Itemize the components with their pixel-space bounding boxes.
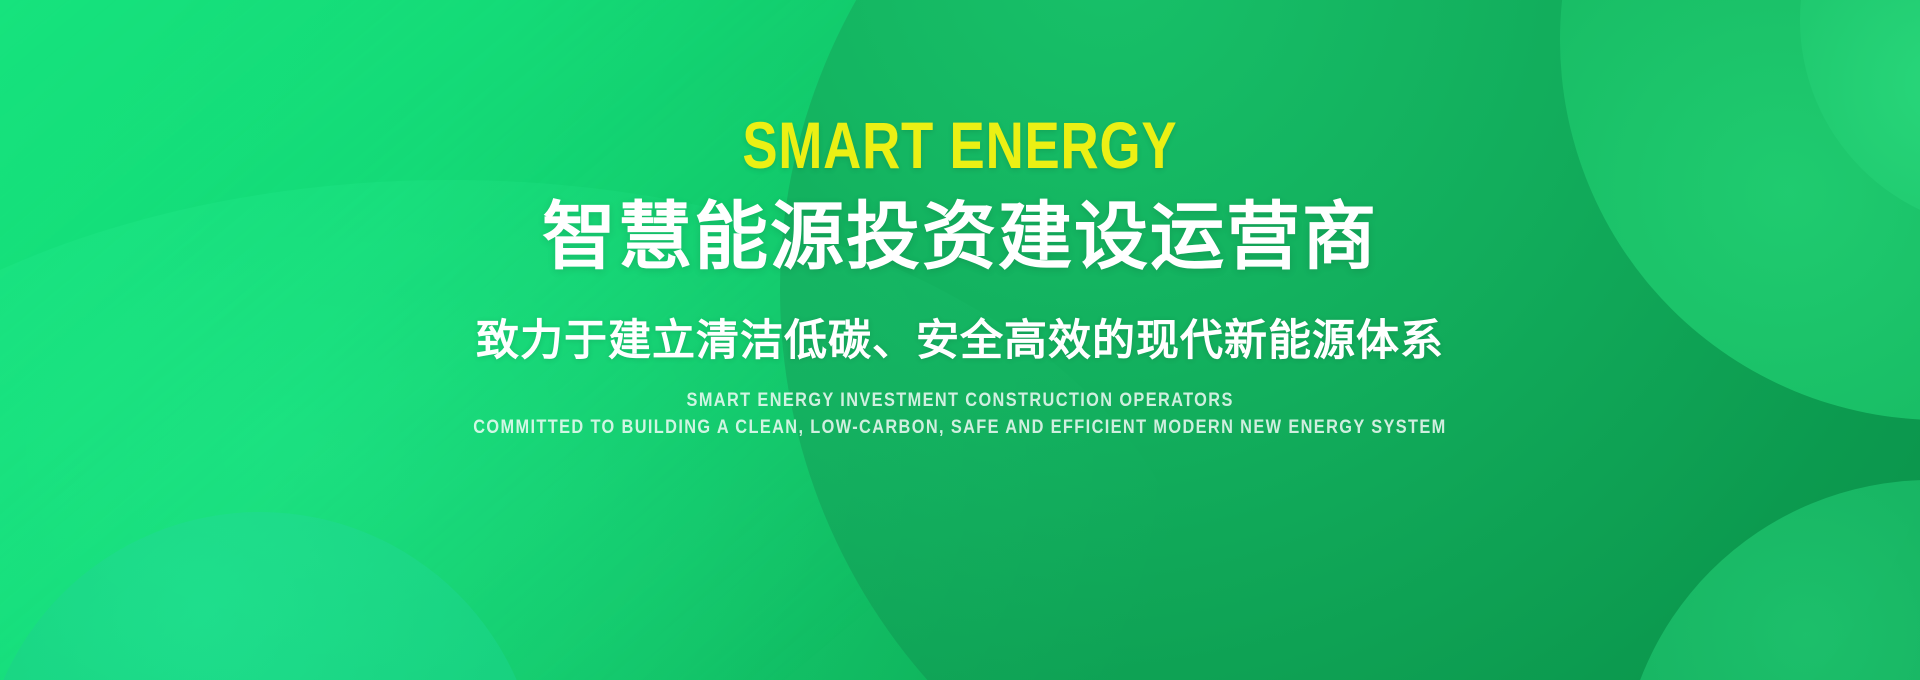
hero-banner: SMART ENERGY 智慧能源投资建设运营商 致力于建立清洁低碳、安全高效的… <box>0 0 1920 680</box>
hero-content: SMART ENERGY 智慧能源投资建设运营商 致力于建立清洁低碳、安全高效的… <box>0 0 1920 680</box>
hero-eyebrow-smart-energy: SMART ENERGY <box>743 112 1178 178</box>
hero-headline-chinese: 智慧能源投资建设运营商 <box>542 200 1378 274</box>
hero-english-block: SMART ENERGY INVESTMENT CONSTRUCTION OPE… <box>394 391 1526 437</box>
hero-subheadline-chinese: 致力于建立清洁低碳、安全高效的现代新能源体系 <box>476 320 1444 363</box>
hero-english-line-1: SMART ENERGY INVESTMENT CONSTRUCTION OPE… <box>686 391 1233 410</box>
hero-english-line-2: COMMITTED TO BUILDING A CLEAN, LOW-CARBO… <box>473 418 1446 437</box>
